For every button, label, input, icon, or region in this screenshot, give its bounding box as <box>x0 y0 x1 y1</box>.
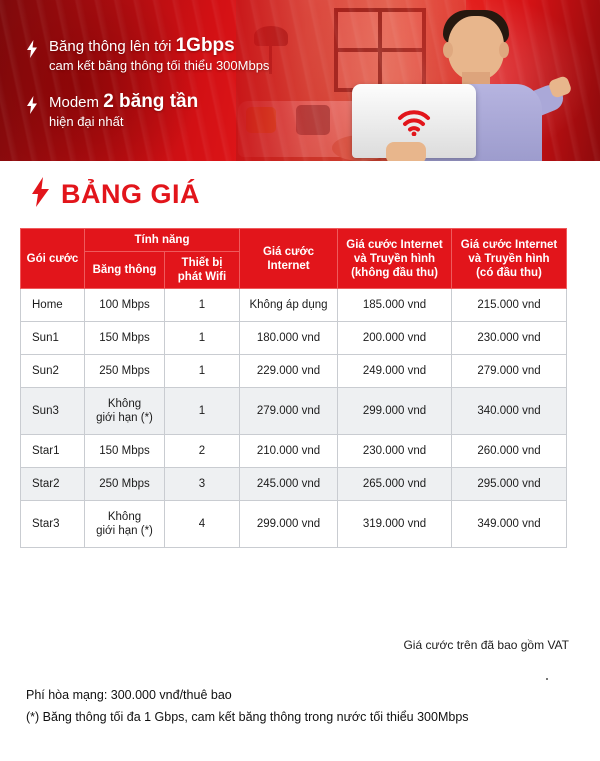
cell-bandwidth-l1: Không <box>88 397 161 411</box>
cell-tv-yes: 279.000 vnd <box>452 355 567 388</box>
price-table-head: Gói cước Tính năng Giá cước Internet Giá… <box>21 229 567 289</box>
vat-note: Giá cước trên đã bao gồm VAT <box>403 638 569 652</box>
header-tv-with-decoder-l1: Giá cước Internet <box>454 238 564 252</box>
cell-tv-no: 319.000 vnd <box>338 501 452 548</box>
cell-tv-no: 185.000 vnd <box>338 289 452 322</box>
cell-tv-yes: 340.000 vnd <box>452 388 567 435</box>
header-tv-no-decoder-l2: và Truyền hình <box>340 252 449 266</box>
banner-bullet-1-strong: 1Gbps <box>176 35 235 56</box>
modem-laptop-illustration <box>352 84 476 158</box>
page-title: BẢNG GIÁ <box>30 177 200 212</box>
banner-bullet-2-line2: hiện đại nhất <box>49 112 198 131</box>
header-row-1: Gói cước Tính năng Giá cước Internet Giá… <box>21 229 567 252</box>
table-row: Sun3 Không giới hạn (*) 1 279.000 vnd 29… <box>21 388 567 435</box>
cell-tv-no: 200.000 vnd <box>338 322 452 355</box>
header-features-group: Tính năng <box>85 229 240 252</box>
header-wifi-device: Thiết bị phát Wifi <box>165 252 240 289</box>
cell-tv-no: 249.000 vnd <box>338 355 452 388</box>
banner-bullet-1-line2: cam kết băng thông tối thiểu 300Mbps <box>49 56 269 75</box>
price-list-page: Băng thông lên tới 1Gbps cam kết băng th… <box>0 0 600 761</box>
header-tv-with-decoder-l2: và Truyền hình <box>454 252 564 266</box>
cell-internet: 279.000 vnd <box>240 388 338 435</box>
header-bandwidth: Băng thông <box>85 252 165 289</box>
table-row: Sun2 250 Mbps 1 229.000 vnd 249.000 vnd … <box>21 355 567 388</box>
header-wifi-device-l2: phát Wifi <box>167 270 237 284</box>
lightning-bolt-icon <box>26 36 38 63</box>
cell-wifi: 1 <box>165 355 240 388</box>
banner-bullet-1-line1: Băng thông lên tới 1Gbps <box>49 36 269 56</box>
bandwidth-footnote: (*) Băng thông tối đa 1 Gbps, cam kết bă… <box>26 706 469 728</box>
header-internet-price-l2: Internet <box>242 259 335 273</box>
cell-wifi: 2 <box>165 435 240 468</box>
header-tv-with-decoder-l3: (có đầu thu) <box>454 266 564 280</box>
cell-bandwidth-l1: Không <box>88 510 161 524</box>
table-row: Star2 250 Mbps 3 245.000 vnd 265.000 vnd… <box>21 468 567 501</box>
price-table: Gói cước Tính năng Giá cước Internet Giá… <box>20 228 567 548</box>
wifi-icon <box>397 110 431 141</box>
header-tv-with-decoder: Giá cước Internet và Truyền hình (có đầu… <box>452 229 567 289</box>
banner-bullet-1: Băng thông lên tới 1Gbps cam kết băng th… <box>26 36 326 75</box>
footer-notes: Phí hòa mạng: 300.000 vnđ/thuê bao (*) B… <box>26 684 469 728</box>
price-table-wrapper: Gói cước Tính năng Giá cước Internet Giá… <box>20 228 566 548</box>
page-title-text: BẢNG GIÁ <box>61 179 200 210</box>
cell-tv-yes: 260.000 vnd <box>452 435 567 468</box>
banner-bullet-2-prefix: Modem <box>49 94 103 111</box>
cell-wifi: 1 <box>165 322 240 355</box>
cell-package: Sun1 <box>21 322 85 355</box>
banner-bullet-2-strong: 2 băng tần <box>103 91 198 112</box>
header-tv-no-decoder: Giá cước Internet và Truyền hình (không … <box>338 229 452 289</box>
cell-bandwidth: 250 Mbps <box>85 355 165 388</box>
cell-bandwidth: 250 Mbps <box>85 468 165 501</box>
cell-package: Sun3 <box>21 388 85 435</box>
cell-package: Star1 <box>21 435 85 468</box>
cell-wifi: 3 <box>165 468 240 501</box>
cell-internet: 229.000 vnd <box>240 355 338 388</box>
header-internet-price: Giá cước Internet <box>240 229 338 289</box>
price-table-body: Home 100 Mbps 1 Không áp dụng 185.000 vn… <box>21 289 567 548</box>
cell-bandwidth: 150 Mbps <box>85 322 165 355</box>
cell-tv-no: 299.000 vnd <box>338 388 452 435</box>
header-wifi-device-l1: Thiết bị <box>167 256 237 270</box>
cell-internet: 180.000 vnd <box>240 322 338 355</box>
install-fee-note: Phí hòa mạng: 300.000 vnđ/thuê bao <box>26 684 469 706</box>
cell-tv-no: 265.000 vnd <box>338 468 452 501</box>
cell-tv-no: 230.000 vnd <box>338 435 452 468</box>
cell-bandwidth: Không giới hạn (*) <box>85 388 165 435</box>
cell-bandwidth-l2: giới hạn (*) <box>88 524 161 538</box>
header-tv-no-decoder-l1: Giá cước Internet <box>340 238 449 252</box>
cell-wifi: 4 <box>165 501 240 548</box>
cell-internet: 299.000 vnd <box>240 501 338 548</box>
cell-wifi: 1 <box>165 388 240 435</box>
lightning-bolt-icon <box>30 177 50 212</box>
banner-bullet-2-line1: Modem 2 băng tần <box>49 92 198 112</box>
cell-tv-yes: 349.000 vnd <box>452 501 567 548</box>
cell-bandwidth: 100 Mbps <box>85 289 165 322</box>
cell-tv-yes: 215.000 vnd <box>452 289 567 322</box>
cell-internet: 210.000 vnd <box>240 435 338 468</box>
banner-bullet-2: Modem 2 băng tần hiện đại nhất <box>26 92 326 131</box>
table-row: Star3 Không giới hạn (*) 4 299.000 vnd 3… <box>21 501 567 548</box>
cell-package: Star3 <box>21 501 85 548</box>
cell-bandwidth: 150 Mbps <box>85 435 165 468</box>
table-row: Sun1 150 Mbps 1 180.000 vnd 200.000 vnd … <box>21 322 567 355</box>
cell-tv-yes: 295.000 vnd <box>452 468 567 501</box>
lightning-bolt-icon <box>26 92 38 119</box>
cell-package: Star2 <box>21 468 85 501</box>
cell-internet: Không áp dụng <box>240 289 338 322</box>
cell-wifi: 1 <box>165 289 240 322</box>
banner-bullet-1-prefix: Băng thông lên tới <box>49 38 176 55</box>
header-internet-price-l1: Giá cước <box>242 245 335 259</box>
stray-dot-mark <box>546 678 548 680</box>
cell-package: Home <box>21 289 85 322</box>
header-package: Gói cước <box>21 229 85 289</box>
cell-tv-yes: 230.000 vnd <box>452 322 567 355</box>
banner-bullet-list: Băng thông lên tới 1Gbps cam kết băng th… <box>26 36 326 148</box>
cell-bandwidth-l2: giới hạn (*) <box>88 411 161 425</box>
table-row: Star1 150 Mbps 2 210.000 vnd 230.000 vnd… <box>21 435 567 468</box>
cell-package: Sun2 <box>21 355 85 388</box>
header-tv-no-decoder-l3: (không đầu thu) <box>340 266 449 280</box>
cell-bandwidth: Không giới hạn (*) <box>85 501 165 548</box>
cell-internet: 245.000 vnd <box>240 468 338 501</box>
table-row: Home 100 Mbps 1 Không áp dụng 185.000 vn… <box>21 289 567 322</box>
promo-banner: Băng thông lên tới 1Gbps cam kết băng th… <box>0 0 600 161</box>
